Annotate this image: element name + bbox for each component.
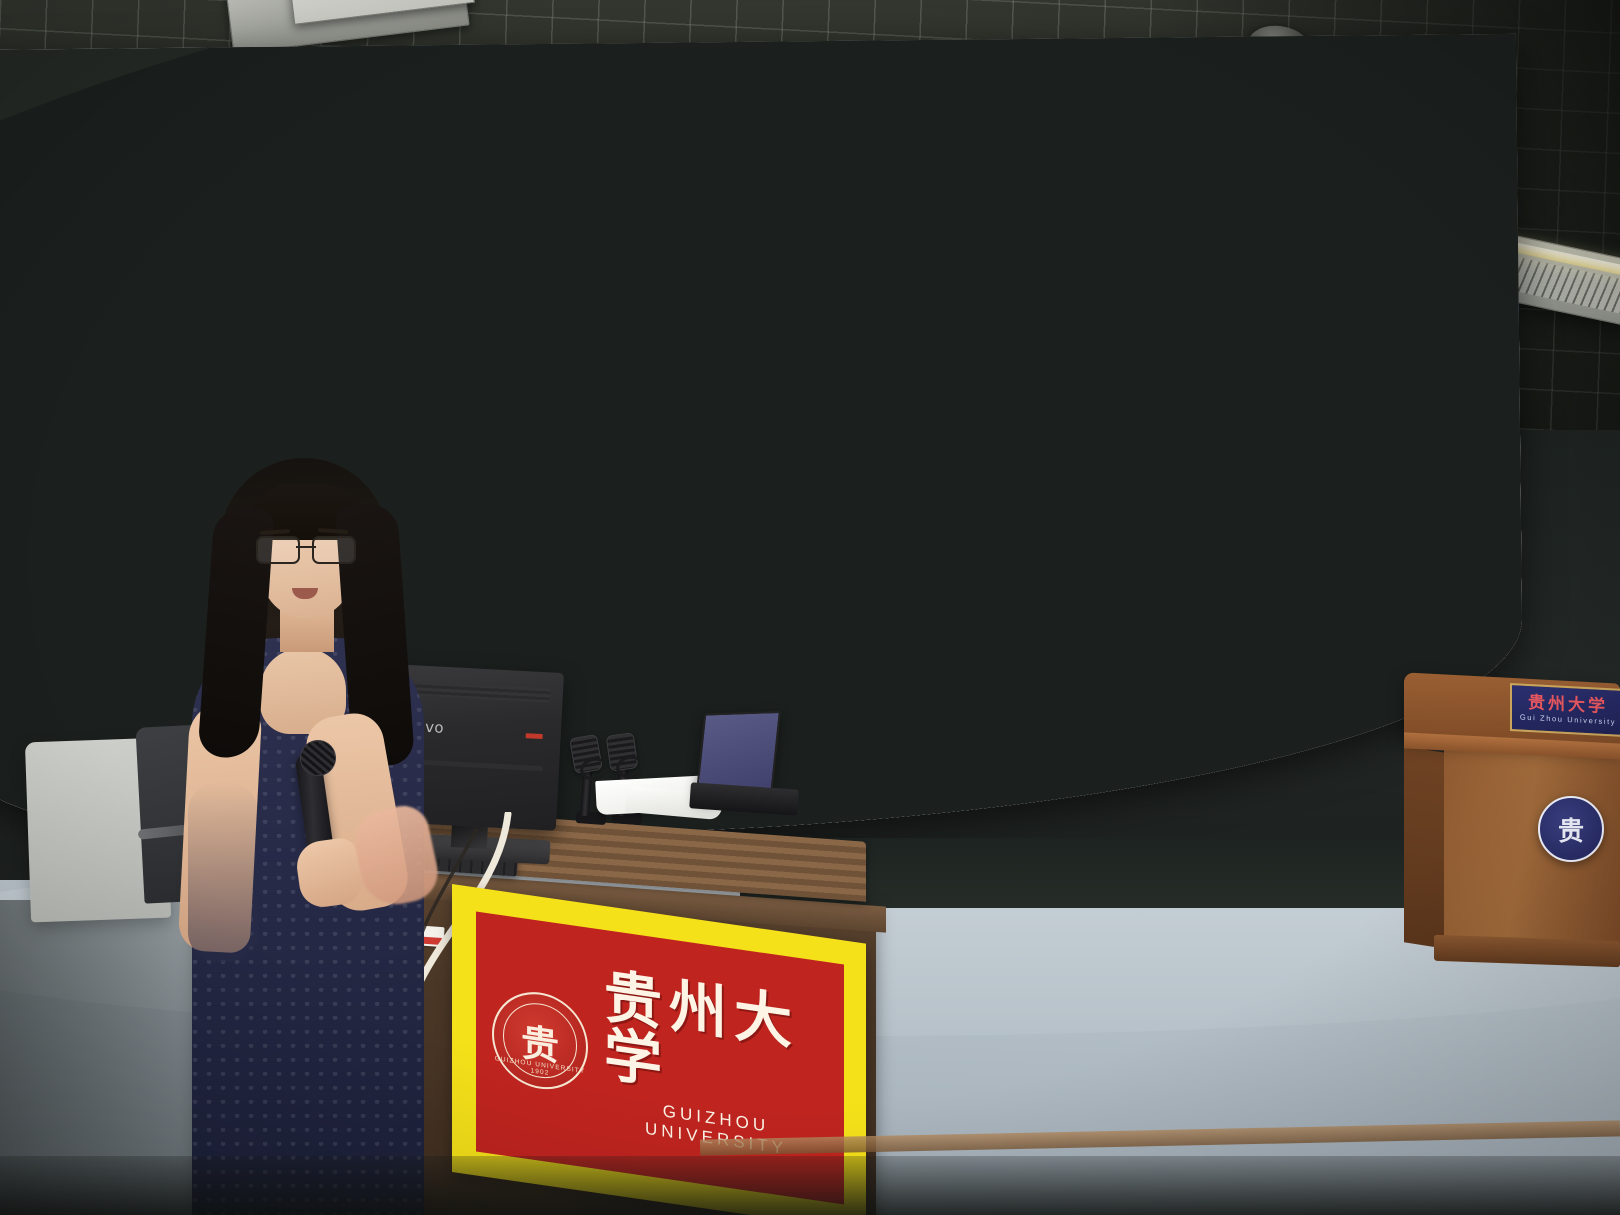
spellcheck-icon[interactable]: ABC <box>256 199 282 225</box>
slide-picture[interactable]: 战狼 WOLF WARRIOR <box>1164 434 1524 711</box>
open-icon[interactable]: 📂 <box>130 181 156 207</box>
insert-table-icon[interactable]: ▦ <box>488 231 514 257</box>
menu-item-edit[interactable]: 编辑(E) <box>172 157 221 183</box>
lectern-body <box>1444 745 1620 963</box>
flag-star-large <box>1315 496 1371 553</box>
slide-number: 6 <box>39 574 45 585</box>
monitor-power-led <box>526 733 543 739</box>
lens-right <box>312 536 356 564</box>
redo-icon[interactable]: ↷ <box>451 226 477 252</box>
font-color-icon[interactable]: A <box>686 291 712 317</box>
lectern-plaque: 贵州大学 Gui Zhou University <box>1510 683 1620 737</box>
underline-button[interactable]: U <box>335 242 361 268</box>
glasses-bridge <box>296 546 316 548</box>
menu-item-insert[interactable]: 插入(I) <box>304 176 348 201</box>
slide-number: 2 <box>72 330 78 341</box>
picture-icon[interactable]: 🖼 <box>548 239 574 265</box>
new-icon[interactable]: ◻ <box>100 177 126 203</box>
menu-item-help[interactable]: 帮助(H) <box>675 227 725 253</box>
menu-item-tools[interactable]: 工具(T) <box>432 194 480 220</box>
university-seal-icon: 贵 GUIZHOU UNIVERSITY 1902 <box>492 986 588 1096</box>
chevron-down-icon <box>621 258 630 264</box>
eyeglasses-icon <box>256 536 356 562</box>
help-icon[interactable]: ? <box>640 252 666 278</box>
powerpoint-app-icon <box>108 116 128 136</box>
chevron-down-icon <box>235 237 244 243</box>
lectern-seal-icon: 贵 <box>1538 796 1604 862</box>
cut-icon[interactable]: ✂ <box>294 204 320 230</box>
font-size-combo[interactable]: 18 <box>209 225 271 255</box>
paste-icon[interactable]: 📋 <box>353 213 379 239</box>
foreground-shadow <box>0 1156 1620 1215</box>
presenter <box>168 452 438 1215</box>
chevron-down-icon <box>133 223 142 229</box>
arm-shadow <box>188 782 258 962</box>
flag-star-small <box>1293 544 1314 564</box>
line-spacing-icon[interactable]: ↕ <box>521 268 547 294</box>
lens-left <box>256 536 300 564</box>
zoom-level-value: 63% <box>591 250 617 267</box>
undo-icon[interactable]: ↶ <box>421 222 447 248</box>
increase-font-icon[interactable]: A↑ <box>619 282 645 308</box>
insert-chart-icon[interactable]: 📊 <box>518 235 544 261</box>
bulleted-list-icon[interactable]: • <box>589 277 615 303</box>
menu-item-window[interactable]: 窗口(W) <box>606 218 659 245</box>
zoom-level-combo[interactable]: 63% <box>585 245 636 273</box>
font-size-value: 18 <box>216 230 232 246</box>
copy-icon[interactable]: ⧉ <box>324 208 350 234</box>
menu-item-view[interactable]: 视图(V) <box>238 167 287 193</box>
align-left-icon[interactable]: ≡ <box>432 256 458 282</box>
flag-star-small <box>1265 517 1290 541</box>
preview-icon[interactable]: 🔍 <box>227 195 253 221</box>
lecture-hall-photo: Microsoft PowerPoint - [文化之思-ppt[兼容模式]] … <box>0 0 1620 1215</box>
shadow-button[interactable]: S <box>365 246 391 272</box>
decrease-font-icon[interactable]: A↓ <box>648 286 674 312</box>
slide-number: 5 <box>47 513 53 524</box>
menu-item-file[interactable]: 文件(F) <box>106 148 154 174</box>
italic-button[interactable]: I <box>306 238 332 264</box>
highlight-color-icon[interactable] <box>403 252 429 278</box>
font-name-value: 宋体 <box>102 212 129 234</box>
print-icon[interactable]: 🖨 <box>197 191 223 217</box>
bold-button[interactable]: B <box>276 234 302 260</box>
slide-number: 1 <box>83 252 89 263</box>
save-icon[interactable]: 💾 <box>159 186 185 212</box>
menu-item-format[interactable]: 格式(O) <box>364 184 415 210</box>
slide-number: 4 <box>55 455 61 466</box>
numbered-list-icon[interactable]: ⒈ <box>559 273 585 299</box>
slide-number: 3 <box>64 388 70 399</box>
align-right-icon[interactable]: ≡ <box>492 264 518 290</box>
align-center-icon[interactable]: ≣ <box>462 260 488 286</box>
sign-chinese-name: 贵州大学 <box>604 967 828 1115</box>
sign-text-block: 贵州大学 GUIZHOU UNIVERSITY <box>604 967 828 1165</box>
format-painter-icon[interactable]: 🖌 <box>383 217 409 243</box>
design-button[interactable]: 设计(S) <box>715 294 779 327</box>
